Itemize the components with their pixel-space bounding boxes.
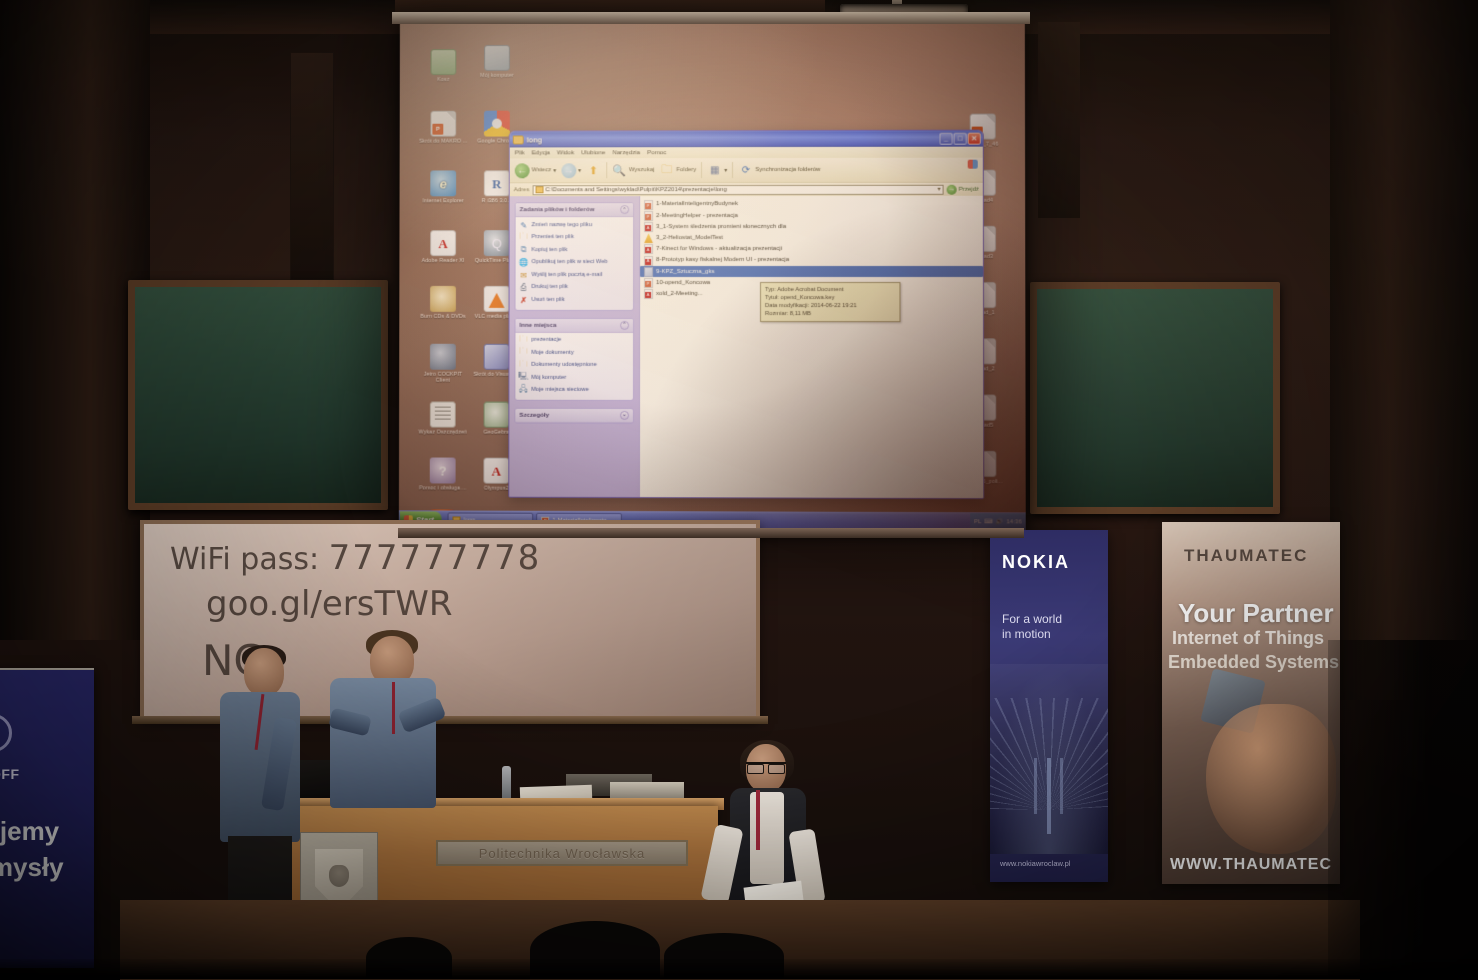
file-tasks-title: Zadania plików i folderów [520, 206, 595, 213]
lanyard [756, 790, 760, 850]
desktop-icon-label: Mój komputer [471, 73, 523, 80]
gks-icon [644, 267, 653, 277]
desktop-icon-label: Jetro COCKPIT Client [417, 372, 469, 385]
file-list[interactable]: 1-MateriałInteligentnyBudynek 2-MeetingH… [639, 196, 983, 499]
screen-roller-bar [392, 12, 1030, 24]
address-bar[interactable]: Adres C:\Documents and Settings\wyklad\P… [510, 183, 983, 197]
rename-icon: ✎ [519, 220, 529, 230]
publish-web-icon: 🌐 [519, 258, 529, 268]
task-label: Opublikuj ten plik w sieci Web [531, 259, 607, 266]
folders-button[interactable]: 🗀 Foldery [659, 163, 696, 178]
sync-label: Synchronizacja folderów [755, 167, 820, 173]
toolbar-separator [732, 162, 733, 178]
task-label: Drukuj ten plik [531, 284, 568, 291]
task-move-file[interactable]: 🗀 Przenieś ten plik [519, 233, 631, 243]
nokia-url: www.nokiawroclaw.pl [1000, 859, 1070, 868]
toolbar-separator [701, 162, 702, 178]
place-label: Moje miejsca sieciowe [531, 387, 588, 394]
wall-speaker-left [290, 52, 334, 280]
task-publish-web[interactable]: 🌐 Opublikuj ten plik w sieci Web [519, 258, 631, 268]
menu-narzedzia[interactable]: Narzędzia [612, 149, 640, 156]
lecture-hall-scene: Kosz Mój komputer P Skrót do MAKRO ... G… [0, 0, 1478, 979]
delete-icon: ✗ [519, 296, 529, 306]
visualizer-shortcut-icon [484, 344, 510, 370]
views-grid-icon: ▦ [707, 163, 722, 178]
jetro-cockpit-icon [430, 344, 456, 370]
details-title: Szczegóły [519, 412, 549, 419]
file-tasks-list: ✎ Zmień nazwę tego pliku 🗀 Przenieś ten … [516, 217, 634, 309]
torso [330, 678, 436, 808]
chevron-up-icon[interactable]: ⌃ [620, 321, 629, 330]
details-header[interactable]: Szczegóły ⌄ [515, 409, 633, 423]
place-label: Moje dokumenty [531, 350, 573, 357]
warning-icon [644, 233, 653, 243]
chevron-up-icon[interactable]: ⌃ [620, 205, 629, 214]
screen-bottom-bar [398, 528, 1024, 538]
foreground-bottom-shadow [0, 959, 1478, 979]
forward-button[interactable]: → ▾ [561, 163, 581, 178]
r-statistics-icon: R [484, 170, 510, 196]
place-shared-documents[interactable]: 🗀 Dokumenty udostępnione [518, 361, 630, 371]
language-indicator[interactable]: PL [974, 519, 981, 525]
file-name: 3_2-Heliostat_ModelTest [656, 234, 723, 242]
keyboard-icon[interactable]: ⌨ [984, 518, 992, 526]
menu-plik[interactable]: Plik [515, 149, 525, 156]
my-documents-icon: 🗀 [518, 348, 528, 358]
lanyard [392, 682, 395, 734]
water-bottle [502, 766, 511, 800]
search-icon: 🔍 [612, 163, 627, 178]
person-student-center [322, 630, 442, 830]
file-name: 1-MateriałInteligentnyBudynek [656, 200, 738, 208]
folders-label: Foldery [676, 167, 696, 173]
logo-ring-icon [0, 714, 12, 752]
address-input[interactable]: C:\Documents and Settings\wyklad\Pulpit\… [532, 184, 943, 194]
file-name: 2-MeetingHelper - prezentacja [656, 212, 738, 220]
desktop-icon-makro-shortcut[interactable]: P Skrót do MAKRO ... [418, 111, 470, 145]
task-copy-file[interactable]: ⧉ Kopiuj ten plik [519, 245, 631, 255]
task-label: Usuń ten plik [531, 297, 564, 304]
pdf-icon [644, 222, 653, 232]
desktop-icon-label: Internet Explorer [417, 198, 469, 204]
burn-disc-icon [430, 286, 456, 312]
file-name: 9-KPZ_Sztuczna_gks [656, 268, 715, 276]
bridge-pylon [1047, 758, 1051, 834]
banner-logo-text: OFF [0, 766, 20, 782]
foreground-right-shadow [1328, 640, 1478, 979]
hand-graphic [1206, 704, 1336, 854]
other-places-card: Inne miejsca ⌃ 🗀 prezentacje 🗀 [514, 317, 634, 400]
desktop-icon-burn-discs[interactable]: Burn CDs & DVDs [417, 286, 469, 320]
task-label: Wyślij ten plik pocztą e-mail [531, 272, 602, 279]
search-button[interactable]: 🔍 Wyszukaj [612, 163, 655, 178]
menu-widok[interactable]: Widok [557, 149, 574, 156]
go-button[interactable]: → Przejdź [947, 184, 979, 194]
sync-folders-button[interactable]: ⟳ Synchronizacja folderów [738, 162, 820, 177]
clock[interactable]: 14:36 [1007, 519, 1022, 525]
chevron-down-icon[interactable]: ⌄ [620, 411, 629, 420]
file-name: 3_1-System śledzenia promieni słonecznyc… [656, 223, 786, 231]
window-titlebar[interactable]: long _ □ ✕ [510, 131, 983, 148]
file-name: xold_2-Meeting... [656, 290, 703, 298]
file-tasks-card: Zadania plików i folderów ⌃ ✎ Zmień nazw… [515, 202, 635, 310]
other-places-header[interactable]: Inne miejsca ⌃ [515, 318, 633, 332]
maximize-button[interactable]: □ [954, 133, 967, 145]
folder-icon [513, 135, 524, 144]
explorer-toolbar[interactable]: ← Wstecz ▾ → ▾ ⬆ 🔍 Wyszukaj [510, 158, 983, 184]
thaumatec-heading: Your Partner [1178, 598, 1334, 629]
task-label: Przenieś ten plik [532, 234, 574, 241]
whiteboard-short-url: goo.gl/ersTWR [206, 584, 453, 624]
menu-bar[interactable]: Plik Edycja Widok Ulubione Narzędzia Pom… [510, 147, 983, 159]
place-network-places[interactable]: 🖧 Moje miejsca sieciowe [518, 386, 630, 396]
nokia-tagline: For a world in motion [1002, 612, 1062, 642]
vlc-cone-icon [484, 286, 510, 312]
pdf-document-icon: A [483, 458, 509, 484]
go-arrow-icon: → [947, 184, 957, 194]
google-chrome-icon [484, 111, 510, 137]
notepad-document-icon [430, 402, 456, 428]
internet-explorer-icon: e [430, 170, 456, 196]
print-icon: ⎙ [519, 283, 529, 293]
windows-explorer-window[interactable]: long _ □ ✕ Plik Edycja Widok Ulubione Na… [508, 130, 984, 500]
close-button[interactable]: ✕ [968, 133, 981, 145]
banner-left-sponsor: OFF ujemy omysły [0, 668, 94, 968]
folder-icon [535, 186, 543, 193]
right-wall-column [1330, 0, 1478, 700]
back-label: Wstecz [532, 167, 552, 173]
place-label: Mój komputer [531, 375, 566, 382]
pdf-icon [644, 256, 653, 266]
pdf-icon [644, 244, 653, 254]
file-list-item[interactable]: 2-MeetingHelper - prezentacja [640, 210, 983, 221]
file-tasks-header[interactable]: Zadania plików i folderów ⌃ [516, 203, 634, 217]
recycle-bin-icon [431, 49, 457, 75]
views-button[interactable]: ▦ ▾ [707, 163, 727, 178]
explorer-task-pane: Zadania plików i folderów ⌃ ✎ Zmień nazw… [509, 196, 639, 499]
other-places-title: Inne miejsca [519, 321, 556, 328]
banner-line-2: omysły [0, 852, 64, 883]
head [244, 648, 284, 696]
tooltip-modified: Data modyfikacji: 2014-06-22 19:21 [765, 302, 895, 310]
file-list-item[interactable]: 1-MateriałInteligentnyBudynek [640, 199, 983, 211]
powerpoint-icon [644, 278, 653, 288]
banner-top-bar [0, 668, 94, 670]
tooltip-type: Typ: Adobe Acrobat Document [765, 286, 895, 294]
file-list-item[interactable]: 7-Kinect for Windows - aktualizacja prez… [640, 244, 983, 255]
thaumatec-url: WWW.THAUMATEC [1170, 856, 1332, 874]
my-computer-icon: 🖳 [518, 373, 528, 383]
tooltip-size: Rozmiar: 8,11 MB [765, 310, 895, 318]
desktop-icon-label: Skrót do MAKRO ... [418, 139, 470, 145]
sync-icon: ⟳ [738, 163, 753, 178]
volume-icon[interactable]: 🔊 [995, 518, 1003, 526]
wall-speaker-right [1038, 22, 1080, 218]
banner-line-1: ujemy [0, 816, 59, 847]
up-button[interactable]: ⬆ [586, 163, 601, 178]
venue-name-plate: Politechnika Wrocławska [436, 840, 688, 866]
toolbar-separator [606, 162, 607, 178]
window-title: long [527, 134, 939, 144]
desktop-icon-notepad-doc[interactable]: Wykaz Oszczędzeń [417, 402, 469, 436]
move-folder-icon: 🗀 [519, 233, 529, 243]
folder-up-icon: ⬆ [586, 163, 601, 178]
file-name: 7-Kinect for Windows - aktualizacja prez… [656, 245, 782, 253]
windows-logo-icon [968, 160, 978, 169]
chevron-down-icon[interactable]: ▾ [553, 167, 556, 174]
chalkboard-right [1030, 282, 1280, 514]
place-label: Dokumenty udostępnione [531, 362, 597, 369]
thaumatec-logo-text: THAUMATEC [1184, 546, 1308, 566]
desktop-icon-jetro-cockpit[interactable]: Jetro COCKPIT Client [417, 344, 469, 385]
desktop-icon-adobe-reader[interactable]: A Adobe Reader XI [417, 230, 469, 264]
chalkboard-left [128, 280, 388, 510]
desktop-icon-label: Burn CDs & DVDs [417, 314, 469, 320]
task-label: Kopiuj ten plik [532, 247, 568, 254]
menu-pomoc[interactable]: Pomoc [647, 149, 666, 156]
email-icon: ✉ [519, 270, 529, 280]
desktop-icon-my-computer[interactable]: Mój komputer [471, 45, 523, 79]
copy-icon: ⧉ [519, 245, 529, 255]
arrow-left-icon: ← [515, 163, 530, 178]
place-prezentacje[interactable]: 🗀 prezentacje [518, 335, 630, 345]
desktop-icon-kosz[interactable]: Kosz [418, 49, 470, 83]
place-label: prezentacje [531, 337, 561, 344]
go-label: Przejdź [959, 186, 979, 192]
address-label: Adres [514, 187, 530, 193]
help-support-icon: ? [430, 457, 456, 483]
file-tooltip: Typ: Adobe Acrobat Document Tytuł: opend… [760, 282, 900, 322]
folders-icon: 🗀 [659, 163, 674, 178]
arrow-right-icon: → [561, 163, 576, 178]
banner-nokia: NOKIA For a world in motion www.nokiawro… [990, 530, 1108, 882]
powerpoint-icon [644, 211, 653, 221]
powerpoint-shortcut-icon: P [430, 111, 456, 137]
folder-icon: 🗀 [518, 335, 528, 345]
minimize-button[interactable]: _ [939, 133, 952, 145]
task-email-file[interactable]: ✉ Wyślij ten plik pocztą e-mail [519, 270, 631, 280]
geogebra-icon [484, 402, 510, 428]
task-label: Zmień nazwę tego pliku [532, 222, 593, 229]
tooltip-title: Tytuł: opend_Koncowa.key [765, 294, 895, 302]
desktop-icon-label: Pomoc i obsługa ... [417, 485, 469, 492]
shared-documents-icon: 🗀 [518, 361, 528, 371]
my-computer-icon [484, 45, 510, 71]
search-label: Wyszukaj [629, 167, 655, 173]
file-list-item[interactable]: 8-Prototyp kasy fiskalnej Modern UI - pr… [640, 255, 983, 266]
desktop-icon-label: Wykaz Oszczędzeń [417, 430, 469, 437]
quicktime-icon: Q [484, 230, 510, 256]
file-list-item[interactable]: 3_2-Heliostat_ModelTest [640, 232, 983, 243]
glasses-icon [746, 762, 786, 770]
chevron-down-icon[interactable]: ▾ [938, 186, 941, 193]
task-print-file[interactable]: ⎙ Drukuj ten plik [519, 283, 631, 293]
thaumatec-line-2: Internet of Things [1172, 628, 1324, 649]
whiteboard-wifi-line: WiFi pass: 777777778 [170, 538, 541, 578]
file-list-item-selected[interactable]: 9-KPZ_Sztuczna_gks [640, 266, 983, 277]
explorer-body: Zadania plików i folderów ⌃ ✎ Zmień nazw… [509, 196, 983, 499]
address-value: C:\Documents and Settings\wyklad\Pulpit\… [545, 187, 727, 193]
desktop-icon-label: Kosz [418, 77, 470, 84]
powerpoint-icon [644, 200, 653, 210]
menu-edycja[interactable]: Edycja [532, 149, 550, 156]
task-delete-file[interactable]: ✗ Usuń ten plik [519, 296, 631, 306]
other-places-list: 🗀 prezentacje 🗀 Moje dokumenty 🗀 Dokume [515, 332, 633, 399]
desktop-icon-internet-explorer[interactable]: e Internet Explorer [417, 170, 469, 204]
task-rename-file[interactable]: ✎ Zmień nazwę tego pliku [519, 220, 631, 230]
file-name: 8-Prototyp kasy fiskalnej Modern UI - pr… [656, 256, 789, 264]
place-my-documents[interactable]: 🗀 Moje dokumenty [518, 348, 630, 358]
whiteboard-wifi-label: WiFi pass: [170, 542, 319, 577]
chevron-down-icon[interactable]: ▾ [724, 167, 727, 174]
menu-ulubione[interactable]: Ulubione [581, 149, 605, 156]
desktop-icon-help-support[interactable]: ? Pomoc i obsługa ... [417, 457, 469, 492]
nokia-logo-text: NOKIA [1002, 552, 1070, 573]
place-my-computer[interactable]: 🖳 Mój komputer [518, 373, 630, 383]
adobe-reader-icon: A [430, 230, 456, 256]
whiteboard-wifi-password: 777777778 [329, 538, 542, 578]
desktop-icon-label: Adobe Reader XI [417, 258, 469, 264]
windows-desktop[interactable]: Kosz Mój komputer P Skrót do MAKRO ... G… [399, 21, 1026, 531]
pdf-icon [644, 289, 653, 299]
details-card: Szczegóły ⌄ [514, 408, 634, 424]
file-name: 10-opend_Koncowa [656, 279, 710, 287]
network-places-icon: 🖧 [518, 386, 528, 396]
thaumatec-line-3: Embedded Systems [1168, 652, 1339, 673]
file-list-item[interactable]: 3_1-System śledzenia promieni słonecznyc… [640, 221, 983, 232]
back-button[interactable]: ← Wstecz ▾ [515, 163, 556, 178]
chevron-down-icon[interactable]: ▾ [578, 167, 581, 174]
banner-thaumatec: THAUMATEC Your Partner Internet of Thing… [1162, 522, 1340, 884]
projection-screen: Kosz Mój komputer P Skrót do MAKRO ... G… [399, 21, 1026, 531]
